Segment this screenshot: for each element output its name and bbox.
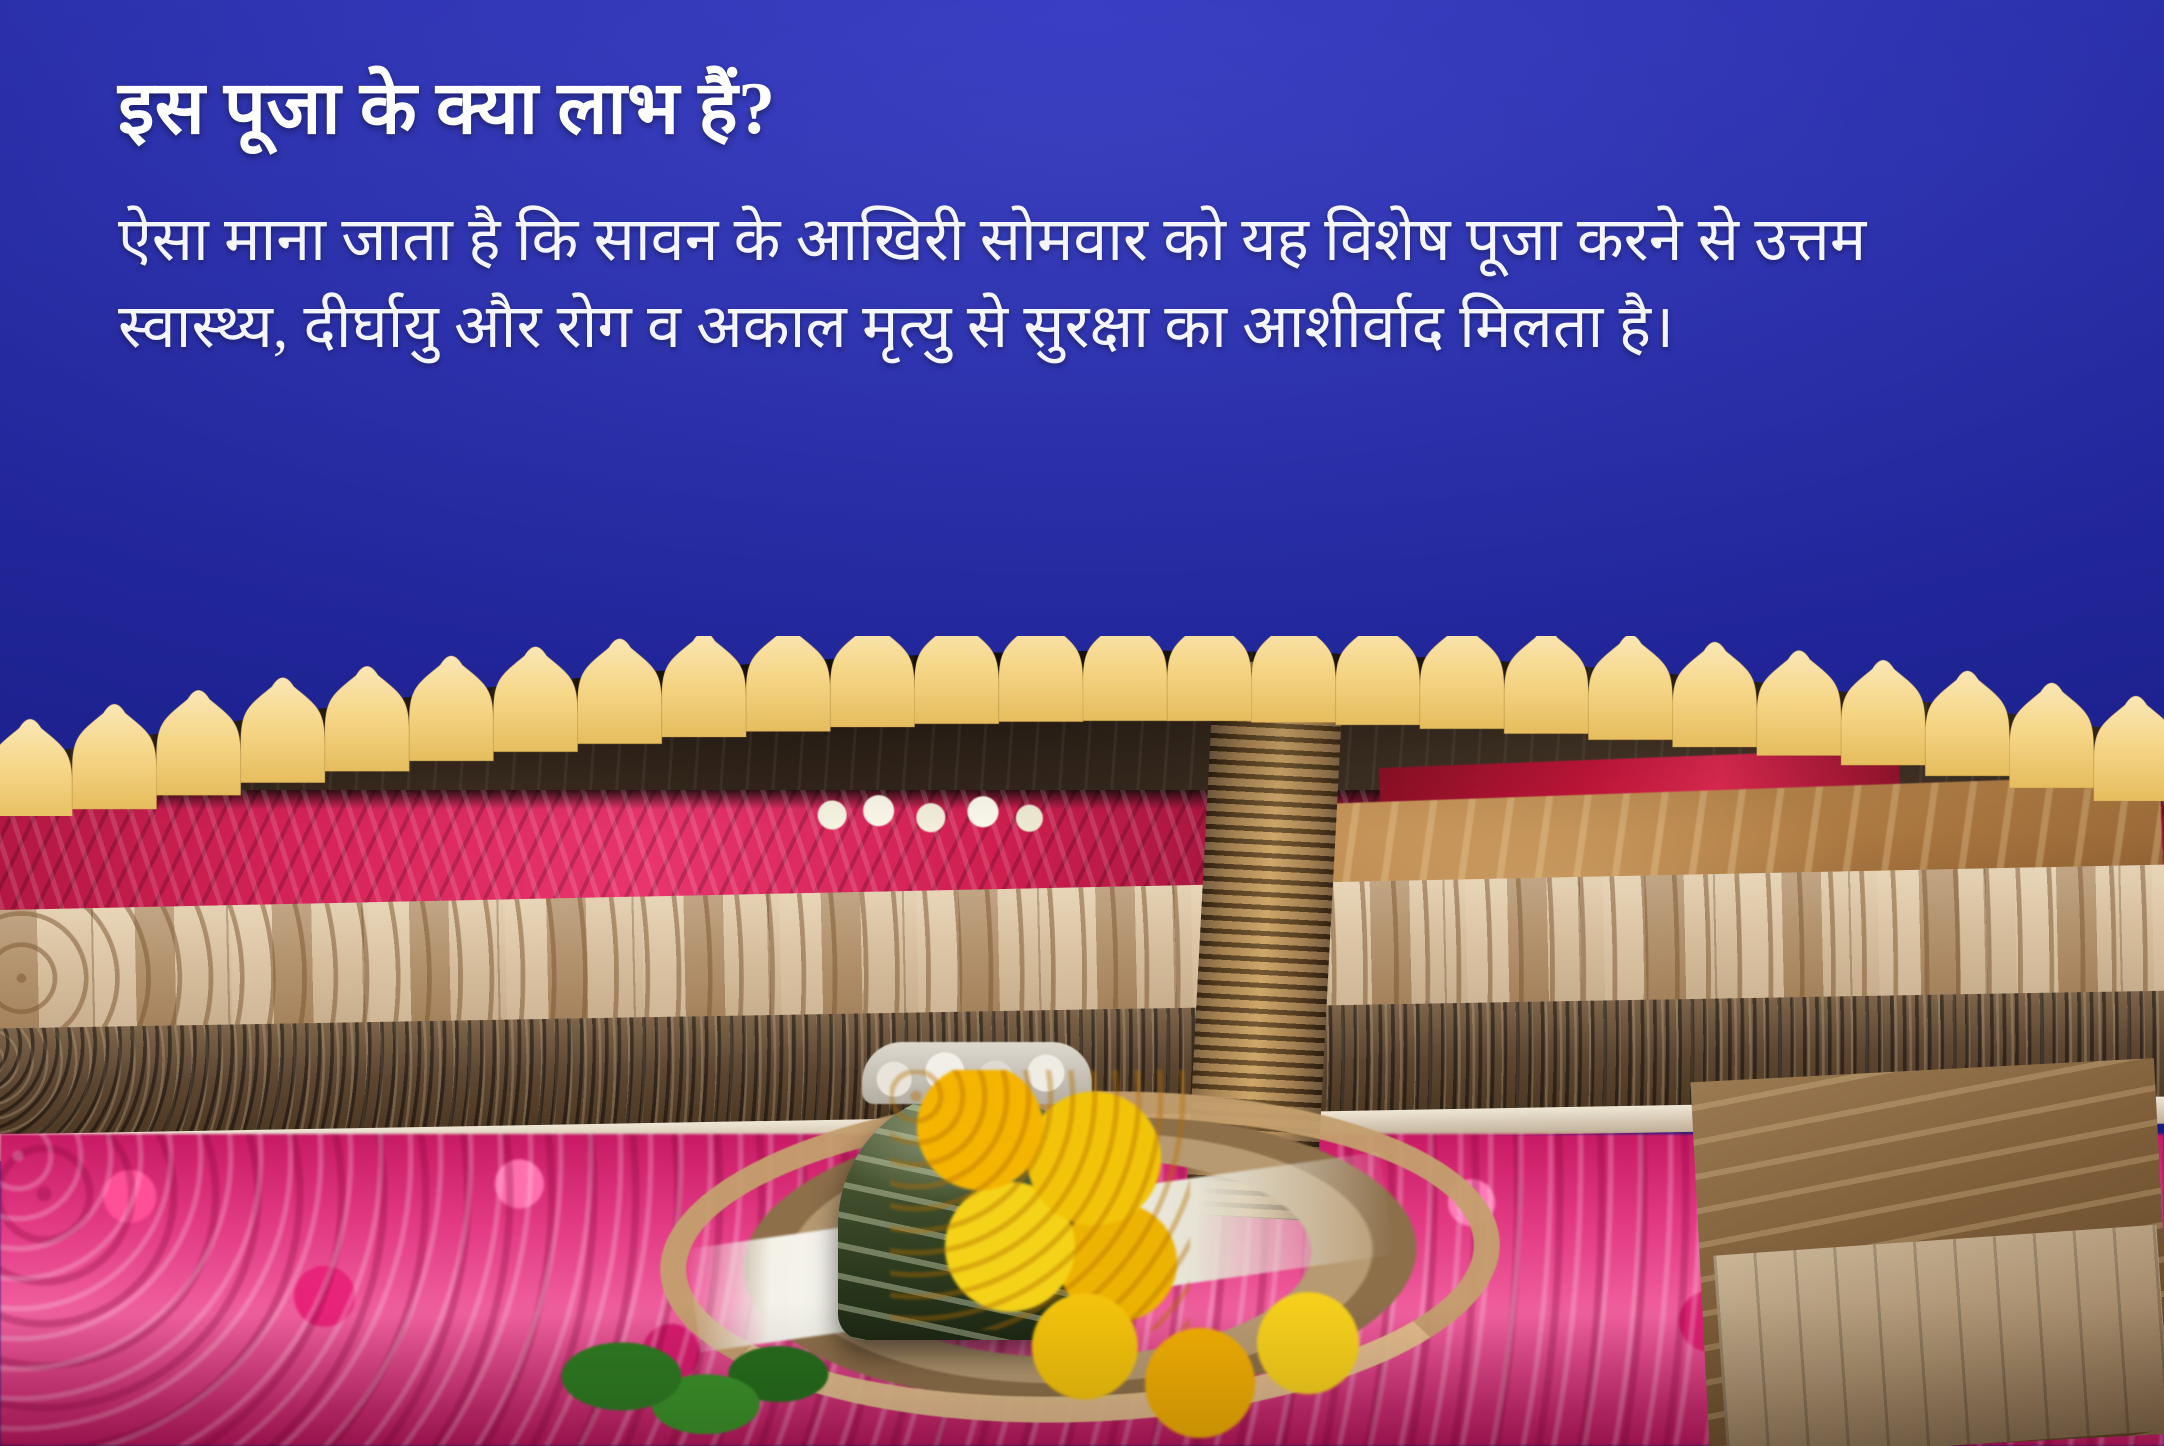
body-paragraph: ऐसा माना जाता है कि सावन के आखिरी सोमवार… xyxy=(118,198,1928,371)
temple-photo xyxy=(0,640,2164,1446)
text-block: इस पूजा के क्या लाभ हैं? ऐसा माना जाता ह… xyxy=(118,64,1978,371)
marigold-cluster-lower xyxy=(1020,1280,1380,1446)
jasmine-garland xyxy=(780,788,1070,842)
page-title: इस पूजा के क्या लाभ हैं? xyxy=(118,64,1978,154)
bilva-leaves xyxy=(560,1330,840,1446)
info-card: इस पूजा के क्या लाभ हैं? ऐसा माना जाता ह… xyxy=(0,0,2164,1446)
stone-railing xyxy=(1713,1225,2164,1446)
temple-photo-image xyxy=(0,640,2164,1446)
